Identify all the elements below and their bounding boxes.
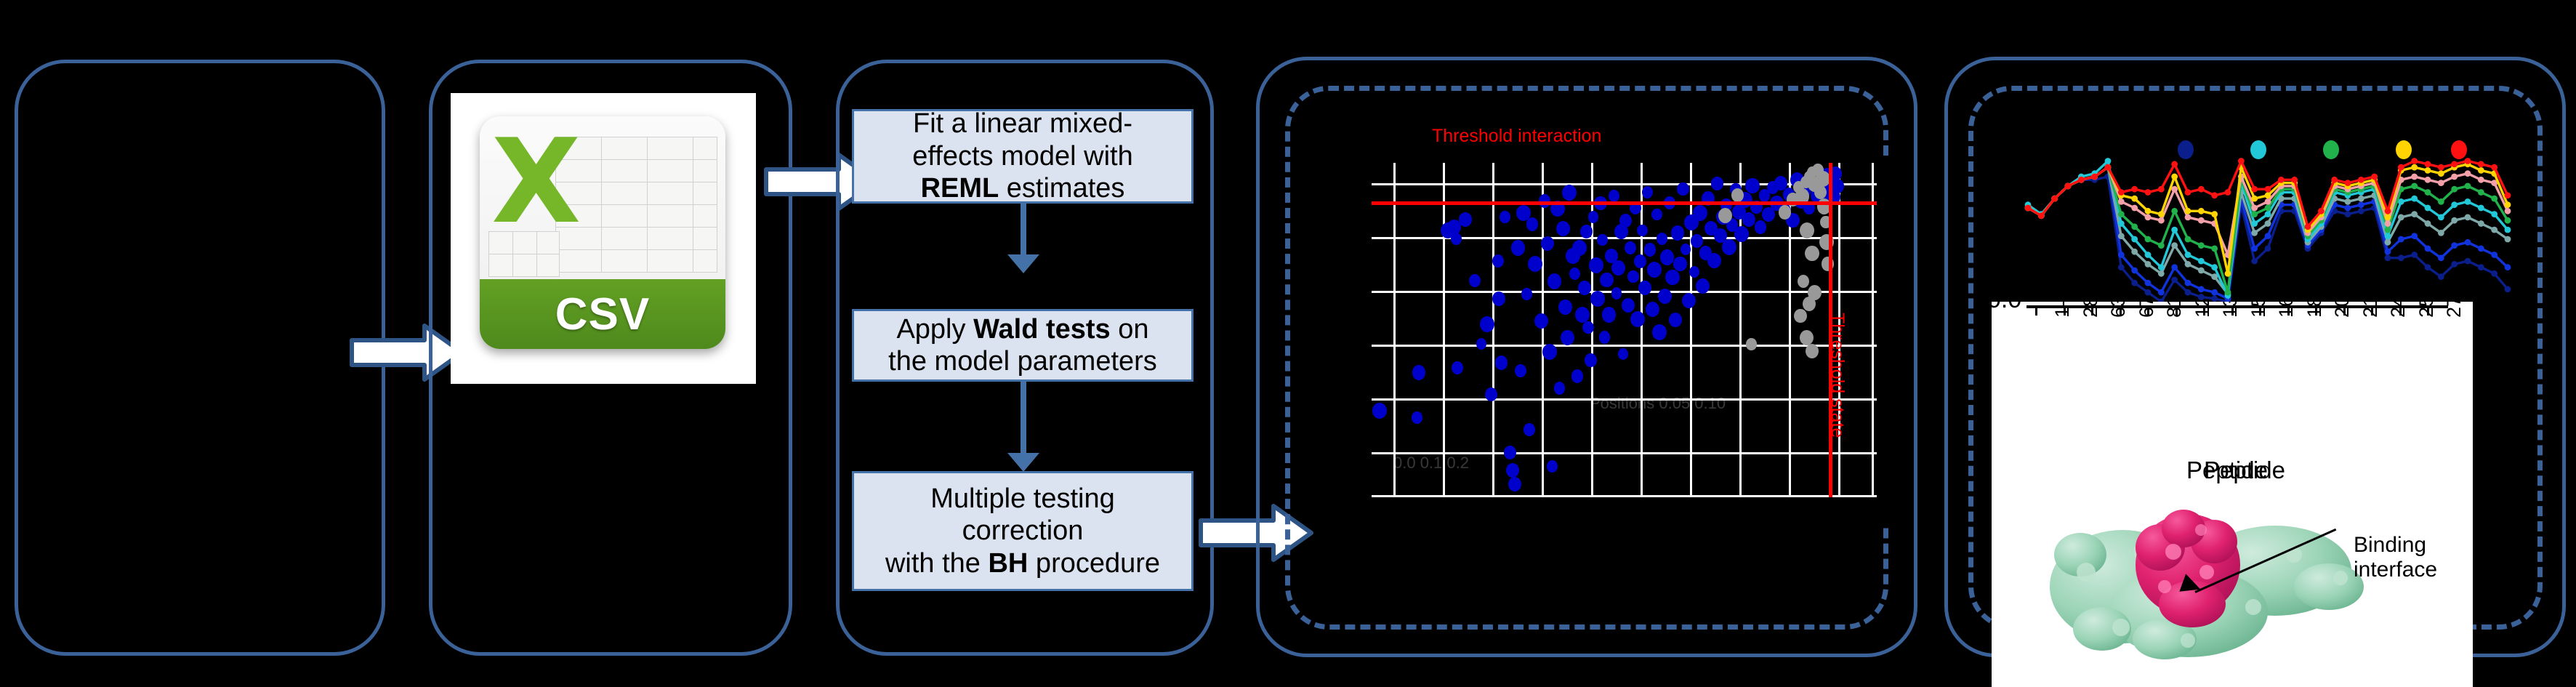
annotation-line-1: Binding <box>2354 533 2437 558</box>
peptide-series-marker <box>2091 174 2098 180</box>
peptide-series-marker <box>2425 246 2431 252</box>
peptide-series-marker <box>2251 211 2258 217</box>
peptide-series-marker <box>2065 183 2072 190</box>
peptide-series-marker <box>2358 201 2364 208</box>
scatter-point-significant <box>1673 257 1686 271</box>
structure-figure-card: 0.0 1-1528-4463-7367-7581-101122-129135-… <box>1992 302 2473 687</box>
peptide-series-marker <box>2131 236 2138 243</box>
legend-dot-timepoint-5 <box>2451 140 2467 159</box>
peptide-series-marker <box>2425 205 2431 212</box>
peptide-series-marker <box>2251 246 2258 252</box>
peptide-series-marker <box>2425 167 2431 174</box>
scatter-point-significant <box>1734 226 1749 242</box>
scatter-point-significant <box>1669 313 1682 327</box>
structure-figure-title: Peptide <box>2186 457 2268 484</box>
scatter-point-significant <box>1588 211 1598 222</box>
peptide-series-marker <box>2385 214 2391 221</box>
peptide-tick-label: 1-15 <box>2051 302 2074 318</box>
threshold-interaction-label: Threshold interaction <box>1432 126 1601 147</box>
scatter-point-significant <box>1547 273 1562 289</box>
step-wald-line-2: the model parameters <box>888 345 1157 377</box>
step-wald-text: Apply Wald tests on the model parameters <box>884 313 1162 378</box>
peptide-series-marker <box>2505 264 2511 270</box>
scatter-point-significant <box>1609 190 1619 202</box>
peptide-series-marker <box>2385 254 2391 261</box>
scatter-point-significant <box>1755 220 1766 233</box>
peptide-series-marker <box>2158 270 2165 277</box>
scatter-point-significant <box>1831 179 1844 193</box>
peptide-series-marker <box>2185 261 2191 268</box>
scatter-point-significant <box>1582 321 1593 334</box>
panel-1-data-collection <box>15 60 385 656</box>
scatter-point-significant <box>1665 270 1680 286</box>
peptide-series-marker <box>2198 242 2205 249</box>
peptide-series-marker <box>2051 196 2058 202</box>
connector-arrowhead-2 <box>1007 453 1039 472</box>
peptide-series-marker <box>2145 236 2152 243</box>
scatter-point-significant <box>1742 212 1755 227</box>
peptide-series-marker <box>2331 177 2338 183</box>
connector-arrowhead-1 <box>1007 254 1039 273</box>
scatter-point-significant <box>1534 313 1548 329</box>
scatter-point-significant <box>1451 233 1462 245</box>
peptide-series-marker <box>2411 211 2418 217</box>
step-box-wald: Apply Wald tests on the model parameters <box>852 309 1194 382</box>
peptide-series-marker <box>2251 230 2258 236</box>
csv-label: CSV <box>555 289 650 340</box>
peptide-series-marker <box>2411 252 2418 258</box>
scatter-point-significant <box>1638 281 1651 295</box>
peptide-series-marker <box>2118 252 2125 258</box>
peptide-series-marker <box>2465 214 2471 221</box>
scatter-point-significant <box>1599 331 1611 344</box>
peptide-series-marker <box>2145 252 2152 258</box>
peptide-series-marker <box>2451 261 2458 268</box>
scatter-point-significant <box>1554 382 1566 395</box>
scatter-point-significant <box>1619 214 1632 228</box>
peptide-series-marker <box>2265 211 2271 217</box>
scatter-point-significant <box>1634 254 1646 268</box>
peptide-series-marker <box>2505 286 2511 292</box>
scatter-point-significant <box>1611 287 1622 299</box>
peptide-tick-label: 218-237 <box>2359 302 2382 318</box>
peptide-series-marker <box>2411 174 2418 180</box>
peptide-axis-tick <box>2035 305 2037 316</box>
scatter-point-significant <box>1602 307 1617 323</box>
scatter-point-significant <box>1480 316 1494 332</box>
scatter-point-significant <box>1476 338 1486 350</box>
peptide-series-marker <box>2291 177 2298 183</box>
scatter-point-significant <box>1644 243 1657 257</box>
step-bh-line-3: with the BH procedure <box>885 547 1160 579</box>
peptide-series-marker <box>2118 264 2125 270</box>
peptide-series-marker <box>2478 167 2484 174</box>
scatter-point-significant <box>1630 311 1645 327</box>
peptide-series-marker <box>2425 189 2431 196</box>
peptide-series-marker <box>2478 205 2484 212</box>
step-box-bh: Multiple testing correction with the BH … <box>852 471 1194 591</box>
step-bh-line-2: correction <box>885 515 1160 547</box>
scatter-point-nonsignificant <box>1718 208 1732 223</box>
peptide-series-marker <box>2198 268 2205 274</box>
peptide-tick-label: 81-101 <box>2163 302 2186 318</box>
peptide-series-marker <box>2158 217 2165 224</box>
scatter-point-significant <box>1711 177 1723 190</box>
scatter-point-significant <box>1524 423 1535 436</box>
peptide-series-marker <box>2198 286 2205 292</box>
peptide-series-marker <box>2478 220 2484 227</box>
peptide-series-marker <box>2251 186 2258 193</box>
peptide-series-marker <box>2425 264 2431 270</box>
peptide-series-marker <box>2185 236 2191 243</box>
peptide-tick-label: 277-284 <box>2443 302 2466 318</box>
peptide-series-marker <box>2505 236 2511 243</box>
scatter-point-significant <box>1572 240 1587 256</box>
peptide-series-marker <box>2398 254 2404 261</box>
peptide-series-marker <box>2145 280 2152 286</box>
peptide-series-marker <box>2491 196 2497 202</box>
scatter-point-significant <box>1558 300 1572 315</box>
scatter-point-nonsignificant <box>1816 171 1830 187</box>
threshold-interaction-line <box>1372 201 1877 205</box>
scatter-point-nonsignificant <box>1794 309 1806 323</box>
step-bh-text: Multiple testing correction with the BH … <box>881 483 1164 579</box>
peptide-series-marker <box>2398 236 2404 243</box>
peptide-series-marker <box>2251 196 2258 202</box>
peptide-series-marker <box>2411 233 2418 239</box>
peptide-series-marker <box>2491 211 2497 217</box>
peptide-series-marker <box>2131 280 2138 286</box>
peptide-series-marker <box>2265 186 2271 193</box>
scatter-point-significant <box>1569 268 1580 280</box>
step-reml-line-1: Fit a linear mixed- <box>912 108 1132 140</box>
peptide-series-marker <box>2145 261 2152 268</box>
scatter-point-significant <box>1542 344 1557 360</box>
peptide-series-marker <box>2145 189 2152 196</box>
peptide-series-marker <box>2251 205 2258 212</box>
scatter-plot-area: Positions 0.05 0.10 0.0 0.1 0.2 <box>1372 163 1877 497</box>
peptide-series-marker <box>2478 177 2484 183</box>
scatter-point-significant <box>1585 353 1596 366</box>
scatter-point-significant <box>1745 178 1760 194</box>
scatter-point-significant <box>1693 205 1707 221</box>
peptide-series-marker <box>2385 233 2391 239</box>
scatter-point-nonsignificant <box>1805 246 1819 261</box>
scatter-point-significant <box>1590 291 1605 307</box>
workflow-figure: X CSV Fit a linear mixed- effects model … <box>0 0 2576 687</box>
scatter-point-significant <box>1511 240 1526 256</box>
scatter-point-nonsignificant <box>1814 185 1827 199</box>
annotation-line-2: interface <box>2354 558 2437 582</box>
peptide-tick-label: 167-180 <box>2275 302 2298 318</box>
scatter-point-significant <box>1660 249 1674 265</box>
peptide-series-marker <box>2425 220 2431 227</box>
excel-x-glyph: X <box>491 124 581 240</box>
step-reml-line-3: REML estimates <box>912 172 1132 204</box>
legend-dot-timepoint-3 <box>2323 140 2339 159</box>
step-reml-line-2: effects model with <box>912 140 1132 172</box>
peptide-series-marker <box>2465 239 2471 246</box>
peptide-series-marker <box>2198 186 2205 193</box>
peptide-series-marker <box>2385 239 2391 246</box>
scatter-point-nonsignificant <box>1793 181 1804 193</box>
peptide-series-marker <box>2171 174 2178 180</box>
scatter-point-significant <box>1691 234 1703 248</box>
binding-interface-annotation: Binding interface <box>2354 533 2437 582</box>
threshold-state-label: Threshold state <box>1827 313 1848 438</box>
peptide-tick-label: 122-129 <box>2191 302 2214 318</box>
scatter-point-significant <box>1412 411 1422 423</box>
peptide-series-marker <box>2451 217 2458 224</box>
legend-dot-timepoint-4 <box>2396 140 2412 159</box>
scatter-point-significant <box>1722 239 1736 255</box>
peptide-series-marker <box>2385 227 2391 233</box>
peptide-series-marker <box>2118 189 2125 196</box>
peptide-tick-label: 63-73 <box>2107 302 2130 318</box>
peptide-series-marker <box>2411 183 2418 190</box>
peptide-series-marker <box>2198 258 2205 265</box>
peptide-series-marker <box>2505 217 2511 224</box>
scatter-point-significant <box>1459 212 1472 227</box>
peptide-series-marker <box>2171 277 2178 284</box>
peptide-series-marker <box>2251 258 2258 265</box>
peptide-tick-label: 158-166 <box>2247 302 2270 318</box>
scatter-point-significant <box>1500 211 1510 223</box>
scatter-point-nonsignificant <box>1800 330 1814 345</box>
scatter-point-significant <box>1556 221 1570 236</box>
step-wald-line-1: Apply Wald tests on <box>888 313 1157 345</box>
peptide-series-marker <box>2505 227 2511 233</box>
scatter-point-significant <box>1646 302 1659 317</box>
legend-dot-timepoint-1 <box>2178 140 2194 159</box>
peptide-series-marker <box>2505 192 2511 198</box>
scatter-point-significant <box>1561 330 1574 345</box>
peptide-series-marker <box>2425 177 2431 183</box>
peptide-series-marker <box>2411 164 2418 171</box>
scatter-point-significant <box>1625 241 1636 254</box>
peptide-series-marker <box>2158 242 2165 249</box>
peptide-series-marker <box>2158 186 2165 193</box>
scatter-point-significant <box>1657 233 1667 245</box>
scatter-point-nonsignificant <box>1779 205 1792 220</box>
peptide-series-marker <box>2465 198 2471 205</box>
peptide-tick-label: 200-214 <box>2331 302 2354 318</box>
scatter-point-significant <box>1575 307 1590 323</box>
peptide-series-marker <box>2131 268 2138 274</box>
peptide-series-marker <box>2345 180 2351 186</box>
peptide-series-marker <box>2171 242 2178 249</box>
peptide-tick-label: 28-44 <box>2080 302 2102 318</box>
peptide-series-marker <box>2358 196 2364 202</box>
scatter-point-significant <box>1618 348 1628 360</box>
scatter-point-significant <box>1611 260 1625 276</box>
peptide-series-marker <box>2438 254 2444 261</box>
connector-wald-to-bh <box>1021 382 1026 454</box>
peptide-series-marker <box>2491 252 2497 258</box>
peptide-series-marker <box>2278 177 2285 183</box>
peptide-series-marker <box>2451 186 2458 193</box>
peptide-tick-label: 184-199 <box>2303 302 2326 318</box>
peptide-series-marker <box>2211 295 2218 302</box>
peptide-series-marker <box>2131 249 2138 255</box>
scatter-point-significant <box>1652 324 1667 340</box>
peptide-series-marker <box>2451 242 2458 249</box>
step-box-reml: Fit a linear mixed- effects model with R… <box>852 109 1194 204</box>
peptide-series-marker <box>2038 212 2045 219</box>
scatter-point-significant <box>1622 298 1635 313</box>
peptide-series-marker <box>2131 205 2138 212</box>
peptide-series-marker <box>2505 208 2511 214</box>
peptide-series-marker <box>2211 192 2218 198</box>
peptide-series-marker <box>2185 280 2191 286</box>
scatter-point-significant <box>1372 403 1387 419</box>
csv-icon-card: X CSV <box>451 93 756 384</box>
peptide-series-marker <box>2131 196 2138 202</box>
scatter-point-significant <box>1515 364 1526 377</box>
volcano-scatter-chart: Threshold interaction Positions 0.05 0.1… <box>1352 156 1890 527</box>
peptide-series-marker <box>2265 233 2271 239</box>
peptide-series-marker <box>2491 227 2497 233</box>
peptide-series-marker <box>2491 270 2497 277</box>
peptide-series-marker <box>2345 211 2351 217</box>
peptide-series-marker <box>2118 220 2125 227</box>
peptide-tick-label: 67-75 <box>2136 302 2158 318</box>
scatter-point-nonsignificant <box>1731 188 1744 202</box>
peptide-series-marker <box>2385 249 2391 255</box>
peptide-series-marker <box>2358 208 2364 214</box>
peptide-series-marker <box>2211 246 2218 252</box>
peptide-tick-label: 258-266 <box>2415 302 2438 318</box>
peptide-series-marker <box>2438 273 2444 280</box>
peptide-series-marker <box>2411 196 2418 202</box>
peptide-series-marker <box>2265 205 2271 212</box>
peptide-series-marker <box>2385 220 2391 227</box>
scatter-point-significant <box>1696 278 1710 294</box>
peptide-series-marker <box>2078 177 2085 183</box>
peptide-series-marker <box>2478 264 2484 270</box>
scatter-point-nonsignificant <box>1746 338 1756 350</box>
peptide-series-marker <box>2185 189 2191 196</box>
legend-dot-timepoint-2 <box>2250 140 2266 159</box>
peptide-series-marker <box>2131 223 2138 230</box>
peptide-series-marker <box>2465 258 2471 265</box>
peptide-series-marker <box>2145 208 2152 214</box>
scatter-point-significant <box>1627 270 1638 283</box>
scatter-point-significant <box>1547 460 1558 473</box>
peptide-series-marker <box>2385 208 2391 214</box>
scatter-point-significant <box>1412 365 1425 379</box>
scatter-point-significant <box>1452 361 1463 374</box>
peptide-series-marker <box>2118 198 2125 205</box>
peptide-series-marker <box>2265 192 2271 198</box>
peptide-series-marker <box>2211 264 2218 270</box>
step-bh-line-1: Multiple testing <box>885 483 1160 515</box>
peptide-series-marker <box>2305 223 2311 230</box>
scatter-point-significant <box>1658 289 1672 304</box>
peptide-series-marker <box>2025 205 2032 212</box>
peptide-series-marker <box>2438 214 2444 221</box>
peptide-series-marker <box>2371 174 2378 180</box>
scatter-point-significant <box>1492 254 1504 268</box>
peptide-tick-label: 135-144 <box>2219 302 2242 318</box>
peptide-series-marker <box>2185 214 2191 221</box>
peptide-series-marker <box>2118 211 2125 217</box>
scatter-point-significant <box>1495 355 1508 370</box>
peptide-series-marker <box>2185 208 2191 214</box>
connector-reml-to-wald <box>1021 204 1026 256</box>
peptide-series-marker <box>2438 198 2444 205</box>
scatter-point-significant <box>1492 292 1505 306</box>
peptide-series-marker <box>2171 186 2178 193</box>
peptide-series-marker <box>2105 164 2112 171</box>
peptide-series-marker <box>2438 230 2444 236</box>
peptide-series-marker <box>2225 289 2231 296</box>
peptide-chart-legend <box>2006 134 2515 164</box>
scatter-point-significant <box>1682 293 1696 308</box>
peptide-series-marker <box>2118 233 2125 239</box>
peptide-tick-label: 241-257 <box>2387 302 2410 318</box>
scatter-point-significant <box>1647 262 1662 278</box>
peptide-series-marker <box>2225 270 2231 277</box>
peptide-series-marker <box>2198 217 2205 224</box>
scatter-point-significant <box>1600 273 1614 288</box>
peptide-series-marker <box>2198 294 2205 300</box>
peptide-series-marker <box>2505 201 2511 208</box>
scatter-point-significant <box>1597 234 1608 246</box>
peptide-series-marker <box>2158 211 2165 217</box>
peptide-series-marker <box>2478 189 2484 196</box>
scatter-point-significant <box>1578 281 1591 295</box>
scatter-point-significant <box>1541 236 1554 251</box>
scatter-point-significant <box>1642 186 1653 198</box>
peptide-series-marker <box>2185 289 2191 296</box>
scatter-point-significant <box>1562 185 1577 201</box>
peptide-series-marker <box>2145 289 2152 296</box>
peptide-series-marker <box>2265 198 2271 205</box>
peptide-series-marker <box>2491 164 2497 171</box>
peptide-series-marker <box>2478 246 2484 252</box>
peptide-series-marker <box>2265 246 2271 252</box>
peptide-series-marker <box>2145 214 2152 221</box>
scatter-point-significant <box>1677 182 1689 196</box>
peptide-series-marker <box>2158 289 2165 296</box>
peptide-series-marker <box>2198 208 2205 214</box>
peptide-series-marker <box>2171 208 2178 214</box>
peptide-series-marker <box>2345 205 2351 212</box>
peptide-series-marker <box>2451 174 2458 180</box>
scatter-point-significant <box>1589 257 1603 273</box>
peptide-series-marker <box>2318 208 2325 214</box>
scatter-point-significant <box>1469 274 1481 287</box>
scatter-point-nonsignificant <box>1808 285 1822 301</box>
peptide-series-marker <box>2265 220 2271 227</box>
scatter-point-significant <box>1637 225 1647 236</box>
peptide-series-marker <box>2451 201 2458 208</box>
scatter-point-significant <box>1707 253 1721 268</box>
peptide-series-marker <box>2185 252 2191 258</box>
scatter-point-significant <box>1506 463 1519 478</box>
csv-sheet-grid: X <box>480 116 725 279</box>
scatter-point-nonsignificant <box>1806 344 1819 358</box>
faint-axis-text-2: 0.0 0.1 0.2 <box>1393 454 1469 473</box>
peptide-series-marker <box>2345 198 2351 205</box>
peptide-series-marker <box>2465 170 2471 177</box>
step-reml-text: Fit a linear mixed- effects model with R… <box>908 108 1137 204</box>
peptide-series-marker <box>2211 289 2218 296</box>
y-axis-zero-label: 0.0 <box>1992 302 2021 314</box>
scatter-point-significant <box>1504 446 1516 459</box>
peptide-series-marker <box>2465 183 2471 190</box>
